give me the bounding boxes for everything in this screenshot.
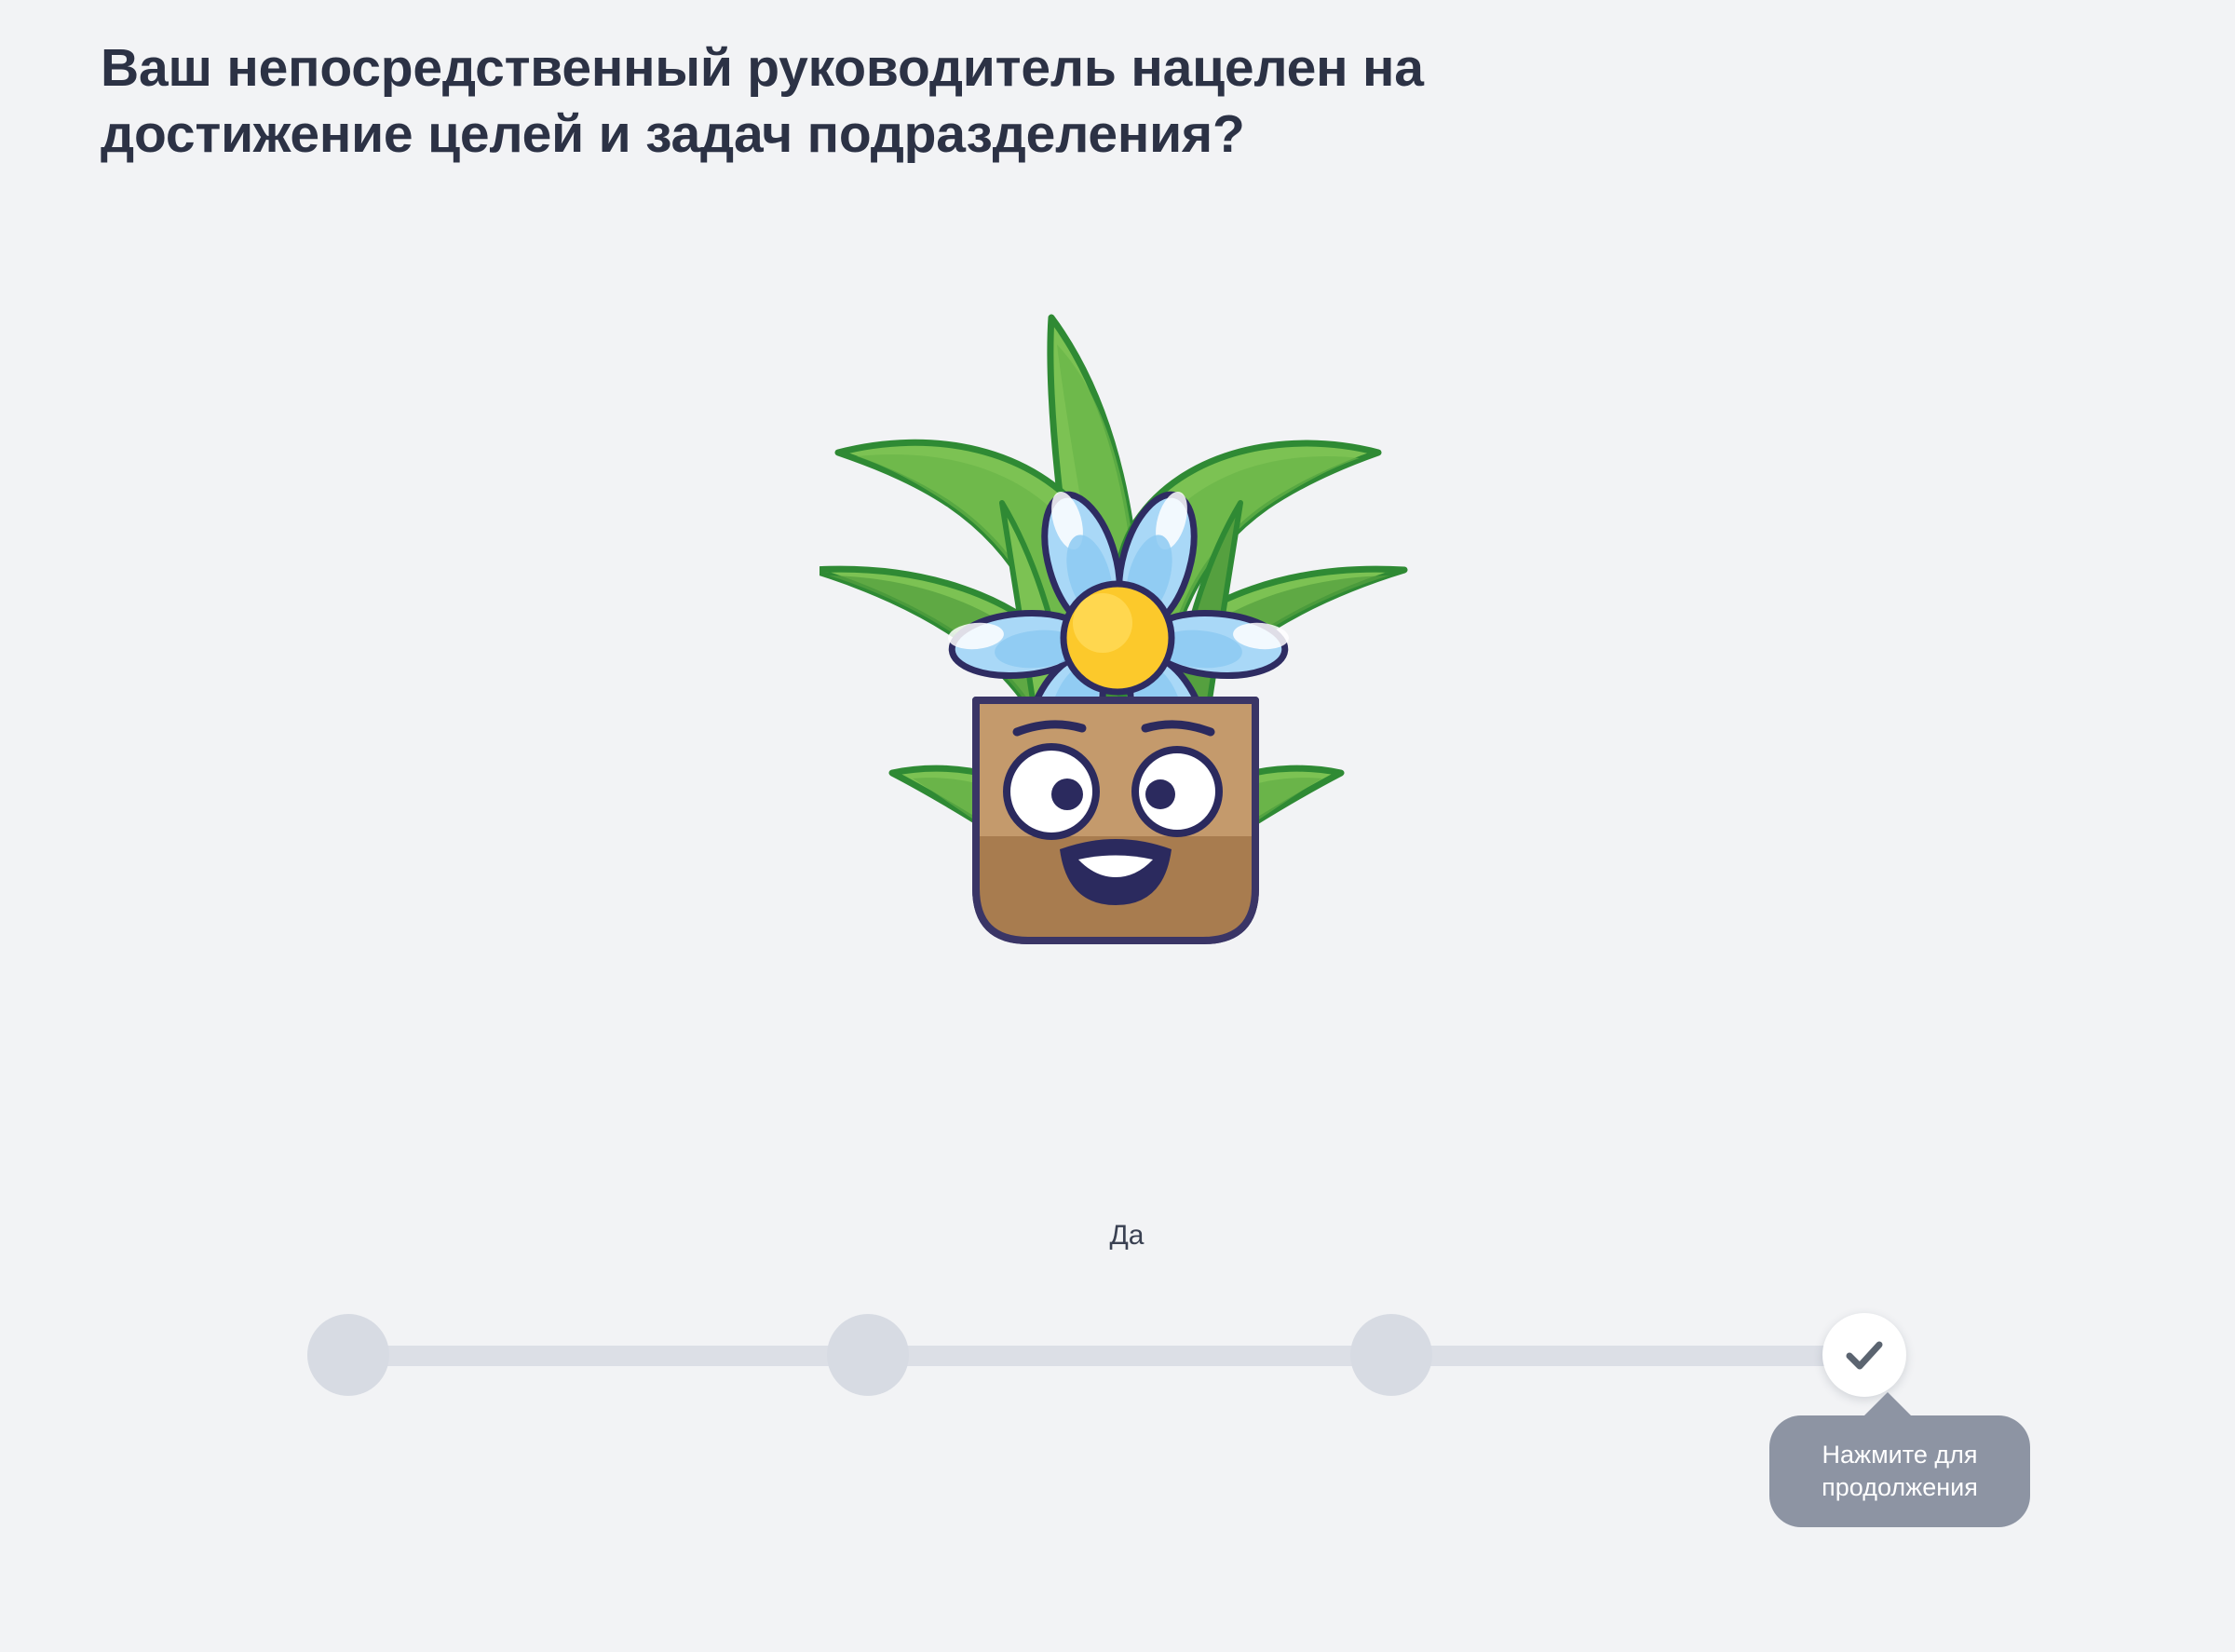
page-title: Ваш непосредственный руководитель нацеле…: [101, 35, 1870, 169]
slider-step-3[interactable]: [1350, 1314, 1432, 1396]
slider-track-wrapper[interactable]: [307, 1294, 1946, 1415]
smiling-potted-plant-graphic: [819, 289, 1415, 1024]
slider-handle-selected[interactable]: [1822, 1313, 1906, 1397]
check-icon: [1840, 1331, 1889, 1379]
plant-illustration: [819, 289, 1415, 1024]
plant-pot: [976, 700, 1255, 941]
continue-tooltip-text: Нажмите для продолжения: [1822, 1439, 1978, 1503]
slider-step-1[interactable]: [307, 1314, 389, 1396]
continue-tooltip: Нажмите для продолжения: [1769, 1415, 2030, 1527]
tooltip-arrow: [1862, 1392, 1914, 1418]
slider-step-2[interactable]: [827, 1314, 909, 1396]
slider-track[interactable]: [347, 1346, 1906, 1366]
slider-value-label: Да: [1006, 1220, 1248, 1252]
